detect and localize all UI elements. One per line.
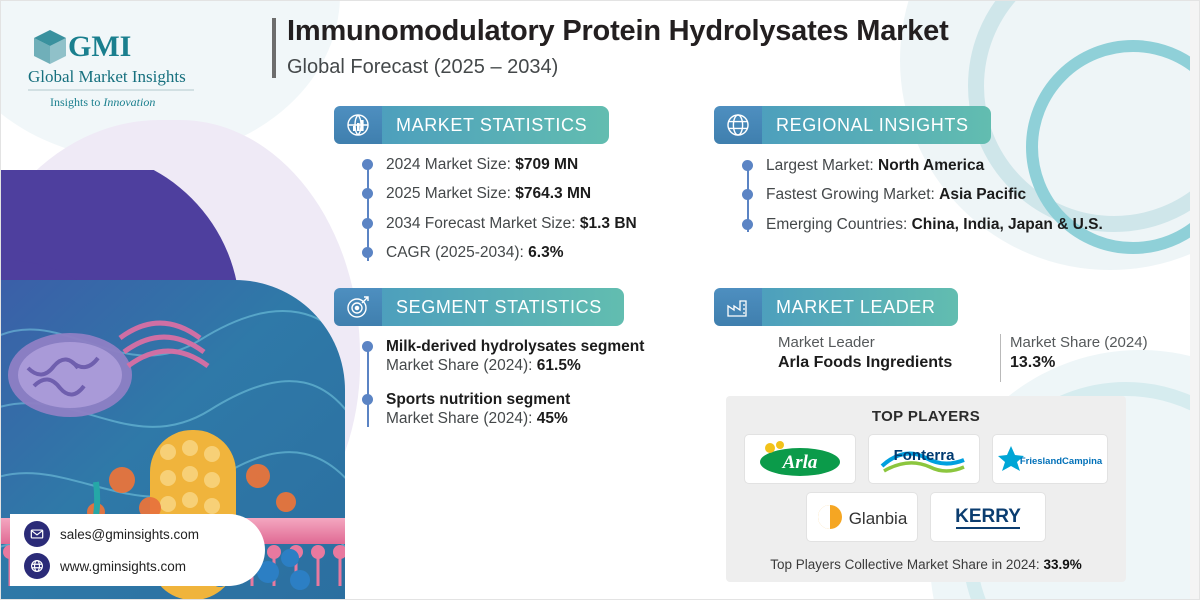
market-leader-share-block: Market Share (2024) 13.3%: [1010, 334, 1200, 372]
list-item: 2024 Market Size: $709 MN: [362, 155, 682, 174]
globe-icon: [24, 553, 50, 579]
segment-title: Sports nutrition segment: [386, 391, 570, 408]
item-value: $764.3 MN: [515, 185, 591, 202]
svg-text:FrieslandCampina: FrieslandCampina: [1020, 456, 1103, 467]
infographic-page: GMI Global Market Insights Insights to I…: [0, 0, 1200, 600]
contact-website: www.gminsights.com: [60, 559, 186, 574]
item-label: 2024 Market Size:: [386, 156, 511, 173]
list-item-text: Milk-derived hydrolysates segment Market…: [386, 337, 644, 376]
list-item: Sports nutrition segment Market Share (2…: [362, 390, 692, 429]
list-item: Largest Market: North America: [742, 156, 1162, 175]
list-item-text: Fastest Growing Market: Asia Pacific: [766, 185, 1026, 204]
top-players-row-2: Glanbia KERRY: [726, 493, 1126, 541]
list-item-text: 2034 Forecast Market Size: $1.3 BN: [386, 214, 637, 233]
contact-website-row[interactable]: www.gminsights.com: [24, 553, 265, 579]
svg-text:Global Market Insights: Global Market Insights: [28, 67, 186, 86]
list-item-text: Largest Market: North America: [766, 156, 984, 175]
bullet-dot: [362, 341, 373, 352]
globe-icon: [714, 106, 762, 144]
factory-icon: [714, 288, 762, 326]
bullet-dot: [742, 189, 753, 200]
contact-email: sales@gminsights.com: [60, 527, 199, 542]
item-value: North America: [878, 157, 984, 174]
svg-text:Glanbia: Glanbia: [849, 509, 908, 528]
collective-share-value: 33.9%: [1043, 557, 1081, 572]
item-label: 2034 Forecast Market Size:: [386, 215, 576, 232]
top-players-card: TOP PLAYERS Arla Fonterra: [726, 396, 1126, 582]
bullet-dot: [362, 188, 373, 199]
list-item: 2034 Forecast Market Size: $1.3 BN: [362, 214, 682, 233]
list-item-text: Emerging Countries: China, India, Japan …: [766, 215, 1103, 234]
section-title-bar: SEGMENT STATISTICS: [380, 288, 624, 326]
section-title-regional-insights: REGIONAL INSIGHTS: [776, 115, 969, 136]
market-share-label: Market Share (2024): [1010, 334, 1200, 351]
bullet-dot: [742, 160, 753, 171]
list-item-text: Sports nutrition segment Market Share (2…: [386, 390, 570, 429]
market-share-value: 13.3%: [1010, 354, 1200, 372]
section-title-bar: MARKET STATISTICS: [380, 106, 609, 144]
leader-divider: [1000, 334, 1001, 382]
section-title-segment-statistics: SEGMENT STATISTICS: [396, 297, 602, 318]
item-value: 45%: [537, 410, 568, 427]
globe-chart-icon: [334, 106, 382, 144]
market-statistics-list: 2024 Market Size: $709 MN 2025 Market Si…: [362, 155, 682, 273]
top-players-row-1: Arla Fonterra FrieslandCampina: [726, 435, 1126, 483]
section-header-market-statistics: MARKET STATISTICS: [334, 106, 609, 144]
item-value: $1.3 BN: [580, 215, 637, 232]
page-subtitle: Global Forecast (2025 – 2034): [287, 56, 558, 79]
item-label: Fastest Growing Market:: [766, 186, 935, 203]
bullet-dot: [362, 159, 373, 170]
player-logo-fonterra: Fonterra: [869, 435, 979, 483]
player-logo-glanbia: Glanbia: [807, 493, 917, 541]
svg-text:Fonterra: Fonterra: [894, 447, 956, 464]
list-item: Fastest Growing Market: Asia Pacific: [742, 185, 1162, 204]
bullet-dot: [362, 247, 373, 258]
item-label: Market Share (2024):: [386, 410, 532, 427]
contact-email-row[interactable]: sales@gminsights.com: [24, 521, 265, 547]
list-item: Emerging Countries: China, India, Japan …: [742, 215, 1162, 234]
list-item-text: 2025 Market Size: $764.3 MN: [386, 184, 591, 203]
item-value: Asia Pacific: [939, 186, 1026, 203]
gmi-logo: GMI Global Market Insights Insights to I…: [22, 22, 237, 117]
list-item: Milk-derived hydrolysates segment Market…: [362, 337, 692, 376]
segment-title: Milk-derived hydrolysates segment: [386, 338, 644, 355]
section-title-bar: REGIONAL INSIGHTS: [760, 106, 991, 144]
segment-statistics-list: Milk-derived hydrolysates segment Market…: [362, 337, 692, 439]
section-title-market-leader: MARKET LEADER: [776, 297, 936, 318]
item-label: Largest Market:: [766, 157, 874, 174]
player-logo-arla: Arla: [745, 435, 855, 483]
svg-text:Arla: Arla: [782, 452, 818, 473]
list-item-text: CAGR (2025-2034): 6.3%: [386, 243, 564, 262]
item-value: $709 MN: [515, 156, 578, 173]
section-header-segment-statistics: SEGMENT STATISTICS: [334, 288, 624, 326]
svg-text:Insights to Innovation: Insights to Innovation: [50, 95, 155, 109]
contact-block: sales@gminsights.com www.gminsights.com: [10, 514, 265, 586]
list-item: 2025 Market Size: $764.3 MN: [362, 184, 682, 203]
item-label: 2025 Market Size:: [386, 185, 511, 202]
list-item: CAGR (2025-2034): 6.3%: [362, 243, 682, 262]
item-label: Emerging Countries:: [766, 216, 907, 233]
item-value: 6.3%: [528, 244, 563, 261]
item-label: CAGR (2025-2034):: [386, 244, 524, 261]
item-label: Market Share (2024):: [386, 357, 532, 374]
player-logo-kerry: KERRY: [931, 493, 1045, 541]
regional-insights-list: Largest Market: North America Fastest Gr…: [742, 156, 1162, 244]
section-header-market-leader: MARKET LEADER: [714, 288, 958, 326]
bullet-dot: [742, 219, 753, 230]
list-item-text: 2024 Market Size: $709 MN: [386, 155, 578, 174]
item-value: China, India, Japan & U.S.: [912, 216, 1103, 233]
player-logo-frieslandcampina: FrieslandCampina: [993, 435, 1107, 483]
right-edge-strip: [1190, 0, 1200, 600]
target-icon: [334, 288, 382, 326]
top-players-footer: Top Players Collective Market Share in 2…: [726, 557, 1126, 572]
title-divider: [272, 18, 276, 78]
bullet-dot: [362, 394, 373, 405]
bullet-dot: [362, 218, 373, 229]
section-header-regional-insights: REGIONAL INSIGHTS: [714, 106, 991, 144]
top-players-heading: TOP PLAYERS: [726, 396, 1126, 425]
item-value: 61.5%: [537, 357, 581, 374]
svg-text:KERRY: KERRY: [955, 506, 1021, 527]
page-title: Immunomodulatory Protein Hydrolysates Ma…: [287, 16, 1087, 48]
section-title-bar: MARKET LEADER: [760, 288, 958, 326]
svg-text:GMI: GMI: [68, 30, 131, 63]
collective-share-label: Top Players Collective Market Share in 2…: [770, 557, 1039, 572]
section-title-market-statistics: MARKET STATISTICS: [396, 115, 587, 136]
envelope-icon: [24, 521, 50, 547]
